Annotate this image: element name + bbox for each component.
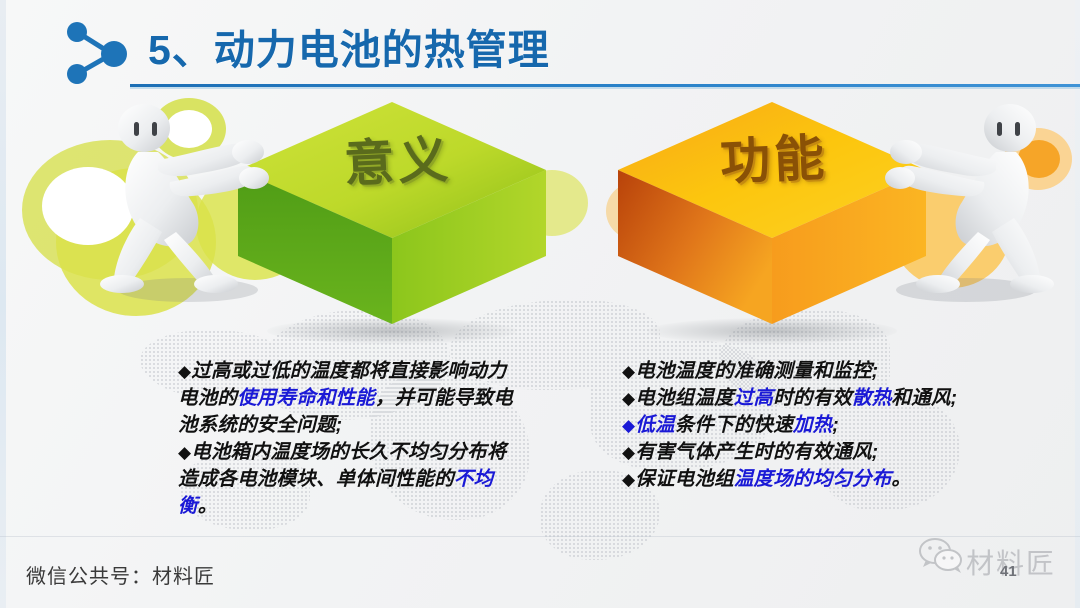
bullet-run: 和通风;: [891, 387, 957, 409]
bullet-run-highlight: 散热: [852, 387, 891, 409]
bullet-marker: ◆: [622, 362, 635, 381]
bullet-item: ◆有害气体产生时的有效通风;: [622, 439, 972, 466]
bullet-run: ;: [832, 414, 839, 436]
bullet-item: ◆过高或过低的温度都将直接影响动力电池的使用寿命和性能，并可能导致电池系统的安全…: [178, 358, 518, 439]
bullet-run: 电池温度的准确测量和监控;: [635, 360, 878, 382]
bullet-marker: ◆: [178, 362, 191, 381]
bullet-run: 有害气体产生时的有效通风;: [635, 441, 878, 463]
wechat-credit-text: 微信公共号：材料匠: [26, 560, 215, 589]
bullet-run-highlight: 过高: [734, 387, 773, 409]
bullet-run: 保证电池组: [635, 468, 734, 490]
bullet-item: ◆电池箱内温度场的长久不均匀分布将造成各电池模块、单体间性能的不均衡。: [178, 439, 518, 520]
bullet-marker: ◆: [178, 443, 191, 462]
bullet-item: ◆低温条件下的快速加热;: [622, 412, 972, 439]
bullet-run-highlight: 低温: [635, 414, 674, 436]
cube-label-function: 功能: [718, 118, 829, 195]
bullet-run: 。: [198, 495, 218, 517]
bullet-run-highlight: 温度场的均匀分布: [734, 468, 892, 490]
mannequin-right: [858, 104, 1058, 315]
bullet-marker: ◆: [622, 389, 635, 408]
bullet-marker: ◆: [622, 443, 635, 462]
slide-right-edge: [1075, 0, 1080, 608]
mannequin-left: [96, 104, 296, 315]
bullet-run: 条件下的快速: [675, 414, 793, 436]
bullet-item: ◆保证电池组温度场的均匀分布。: [622, 466, 972, 493]
bullet-item: ◆电池温度的准确测量和监控;: [622, 358, 972, 385]
node-network-icon: [52, 14, 144, 90]
bullet-run: 时的有效: [773, 387, 852, 409]
bullet-marker: ◆: [622, 416, 635, 435]
bullet-run: 。: [891, 468, 911, 490]
page-title: 5、动力电池的热管理: [148, 16, 550, 76]
slide-left-edge: [0, 0, 6, 608]
wechat-icon: [918, 536, 964, 576]
bullet-run-highlight: 加热: [793, 414, 832, 436]
slide-canvas: 5、动力电池的热管理: [0, 0, 1080, 608]
bullet-item: ◆电池组温度过高时的有效散热和通风;: [622, 385, 972, 412]
page-number: 41: [1000, 563, 1017, 580]
wechat-watermark: 材料匠: [918, 536, 1078, 592]
header-divider-glow: [130, 87, 1080, 89]
function-bullets: ◆电池温度的准确测量和监控;◆电池组温度过高时的有效散热和通风;◆低温条件下的快…: [622, 358, 972, 493]
significance-bullets: ◆过高或过低的温度都将直接影响动力电池的使用寿命和性能，并可能导致电池系统的安全…: [178, 358, 518, 520]
cube-label-significance: 意义: [342, 120, 453, 197]
bullet-marker: ◆: [622, 470, 635, 489]
bullet-run-highlight: 使用寿命和性能: [237, 387, 375, 409]
bullet-run: 电池组温度: [635, 387, 734, 409]
